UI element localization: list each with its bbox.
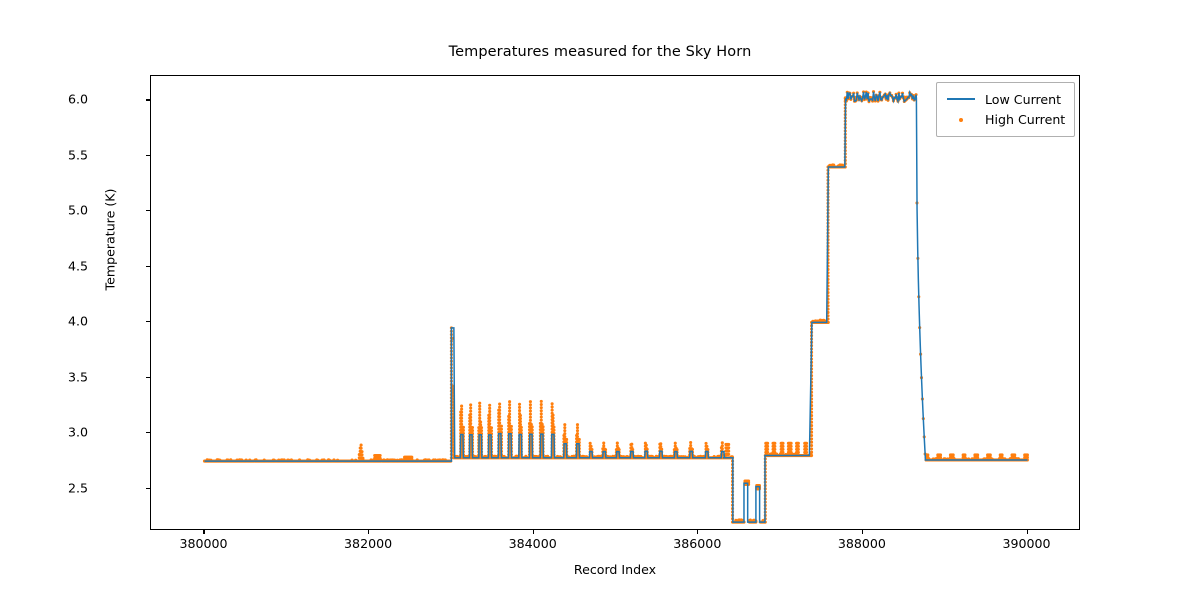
legend-label-low-current: Low Current (985, 92, 1061, 107)
y-tick-label: 5.0 (28, 203, 88, 218)
y-tick-label: 5.5 (28, 147, 88, 162)
x-tick-mark (368, 530, 369, 534)
x-tick-mark (533, 530, 534, 534)
chart-title: Temperatures measured for the Sky Horn (0, 44, 1200, 60)
y-tick-label: 6.0 (28, 92, 88, 107)
x-tick-label: 386000 (637, 536, 757, 551)
chart-legend[interactable]: Low Current High Current (936, 82, 1075, 137)
legend-item-low-current[interactable]: Low Current (946, 89, 1065, 109)
series-high-current (203, 90, 1029, 524)
x-axis-label: Record Index (150, 562, 1080, 577)
chart-data-canvas (151, 76, 1080, 530)
legend-line-swatch-icon (946, 90, 976, 108)
x-tick-label: 388000 (802, 536, 922, 551)
x-tick-label: 382000 (308, 536, 428, 551)
x-tick-mark (697, 530, 698, 534)
x-tick-mark (1027, 530, 1028, 534)
y-tick-label: 4.5 (28, 258, 88, 273)
plot-area (150, 75, 1080, 530)
y-tick-label: 3.5 (28, 369, 88, 384)
x-tick-mark (203, 530, 204, 534)
y-tick-label: 2.5 (28, 480, 88, 495)
x-tick-label: 384000 (473, 536, 593, 551)
y-tick-label: 3.0 (28, 425, 88, 440)
x-tick-mark (862, 530, 863, 534)
x-tick-label: 380000 (143, 536, 263, 551)
series-low-current (205, 92, 1028, 522)
y-axis-label: Temperature (K) (103, 120, 118, 360)
legend-label-high-current: High Current (985, 112, 1065, 127)
legend-item-high-current[interactable]: High Current (946, 109, 1065, 129)
legend-dot-swatch-icon (946, 110, 976, 128)
x-tick-label: 390000 (967, 536, 1087, 551)
y-tick-label: 4.0 (28, 314, 88, 329)
matplotlib-figure: Temperatures measured for the Sky Horn T… (0, 0, 1200, 600)
